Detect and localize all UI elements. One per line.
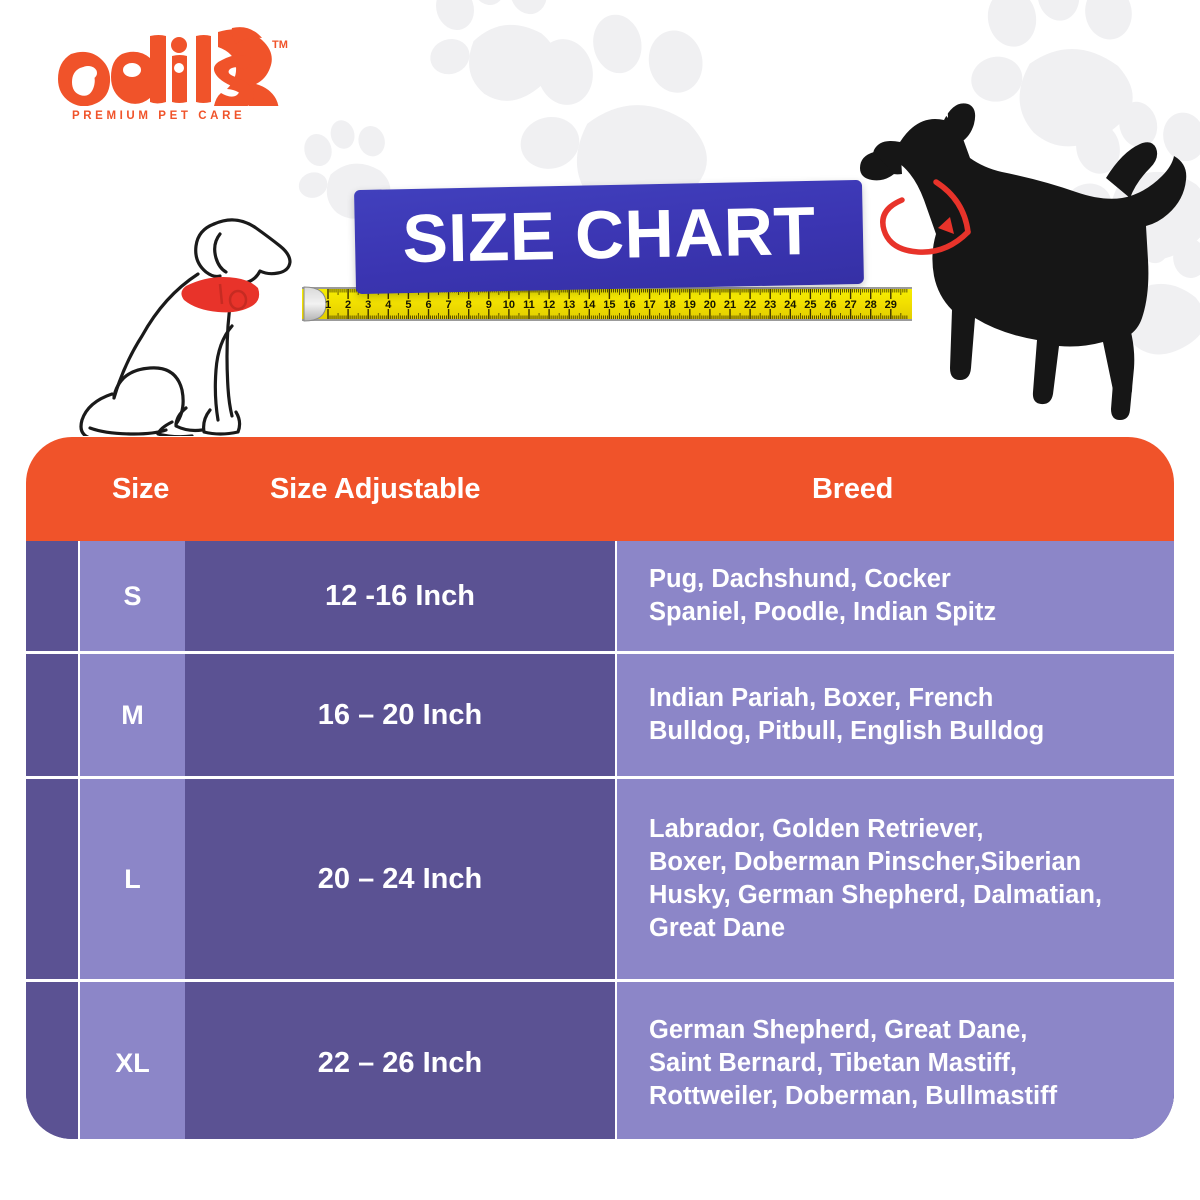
table-body: S 12 -16 Inch Pug, Dachshund, Cocker Spa… — [26, 541, 1174, 1139]
breed-line: Indian Pariah, Boxer, French — [649, 682, 1044, 715]
column-header-size: Size — [112, 437, 169, 541]
column-header-breed: Breed — [812, 437, 893, 541]
size-chart-poster: TM PREMIUM PET CARE — [0, 0, 1200, 1200]
cell-breed: Labrador, Golden Retriever, Boxer, Dober… — [615, 779, 1174, 979]
breed-line: Rottweiler, Doberman, Bullmastiff — [649, 1080, 1057, 1113]
breed-line: Pug, Dachshund, Cocker — [649, 563, 996, 596]
breed-line: Saint Bernard, Tibetan Mastiff, — [649, 1047, 1057, 1080]
svg-text:2: 2 — [345, 299, 351, 311]
cell-size: M — [78, 654, 187, 776]
standing-dog-silhouette-icon — [788, 82, 1188, 442]
svg-text:8: 8 — [466, 299, 472, 311]
svg-text:5: 5 — [405, 299, 411, 311]
breed-line: Great Dane — [649, 912, 1102, 945]
cell-adjustable: 20 – 24 Inch — [185, 779, 615, 979]
breed-line: Labrador, Golden Retriever, — [649, 813, 1102, 846]
cell-breed: Indian Pariah, Boxer, French Bulldog, Pi… — [615, 654, 1174, 776]
breed-line: Bulldog, Pitbull, English Bulldog — [649, 715, 1044, 748]
svg-text:12: 12 — [543, 299, 555, 311]
sitting-dog-outline-icon — [62, 196, 322, 436]
svg-text:17: 17 — [643, 299, 655, 311]
svg-text:3: 3 — [365, 299, 371, 311]
svg-text:15: 15 — [603, 299, 615, 311]
cell-size: S — [78, 541, 187, 651]
brand-logo: TM PREMIUM PET CARE — [36, 26, 306, 136]
column-header-adjustable: Size Adjustable — [270, 437, 480, 541]
svg-text:6: 6 — [425, 299, 431, 311]
breed-line: Spaniel, Poodle, Indian Spitz — [649, 596, 996, 629]
breed-line: Boxer, Doberman Pinscher,Siberian — [649, 846, 1102, 879]
breed-line: Husky, German Shepherd, Dalmatian, — [649, 879, 1102, 912]
svg-text:11: 11 — [523, 299, 535, 311]
banner-title: SIZE CHART — [402, 197, 816, 273]
svg-text:10: 10 — [503, 299, 515, 311]
table-header-row: Size Size Adjustable Breed — [26, 437, 1174, 541]
svg-text:TM: TM — [272, 39, 288, 51]
svg-text:14: 14 — [583, 299, 596, 311]
cell-adjustable: 22 – 26 Inch — [185, 982, 615, 1139]
svg-text:4: 4 — [385, 299, 392, 311]
svg-text:7: 7 — [446, 299, 452, 311]
svg-text:19: 19 — [684, 299, 696, 311]
breed-line: German Shepherd, Great Dane, — [649, 1014, 1057, 1047]
size-chart-table: Size Size Adjustable Breed S 12 -16 Inch… — [26, 437, 1174, 1139]
table-row: XL 22 – 26 Inch German Shepherd, Great D… — [26, 979, 1174, 1139]
cell-size: XL — [78, 982, 187, 1139]
svg-text:16: 16 — [623, 299, 635, 311]
cell-breed: Pug, Dachshund, Cocker Spaniel, Poodle, … — [615, 541, 1174, 651]
svg-text:21: 21 — [724, 299, 736, 311]
svg-text:9: 9 — [486, 299, 492, 311]
adils-logo-icon: TM — [36, 26, 306, 106]
svg-text:13: 13 — [563, 299, 575, 311]
svg-text:1: 1 — [325, 299, 331, 311]
table-row: S 12 -16 Inch Pug, Dachshund, Cocker Spa… — [26, 541, 1174, 651]
cell-adjustable: 12 -16 Inch — [185, 541, 615, 651]
table-row: M 16 – 20 Inch Indian Pariah, Boxer, Fre… — [26, 651, 1174, 776]
brand-tagline: PREMIUM PET CARE — [72, 110, 272, 122]
cell-breed: German Shepherd, Great Dane, Saint Berna… — [615, 982, 1174, 1139]
table-row: L 20 – 24 Inch Labrador, Golden Retrieve… — [26, 776, 1174, 979]
svg-text:22: 22 — [744, 299, 756, 311]
svg-text:20: 20 — [704, 299, 716, 311]
cell-adjustable: 16 – 20 Inch — [185, 654, 615, 776]
svg-text:23: 23 — [764, 299, 776, 311]
svg-text:18: 18 — [664, 299, 676, 311]
cell-size: L — [78, 779, 187, 979]
